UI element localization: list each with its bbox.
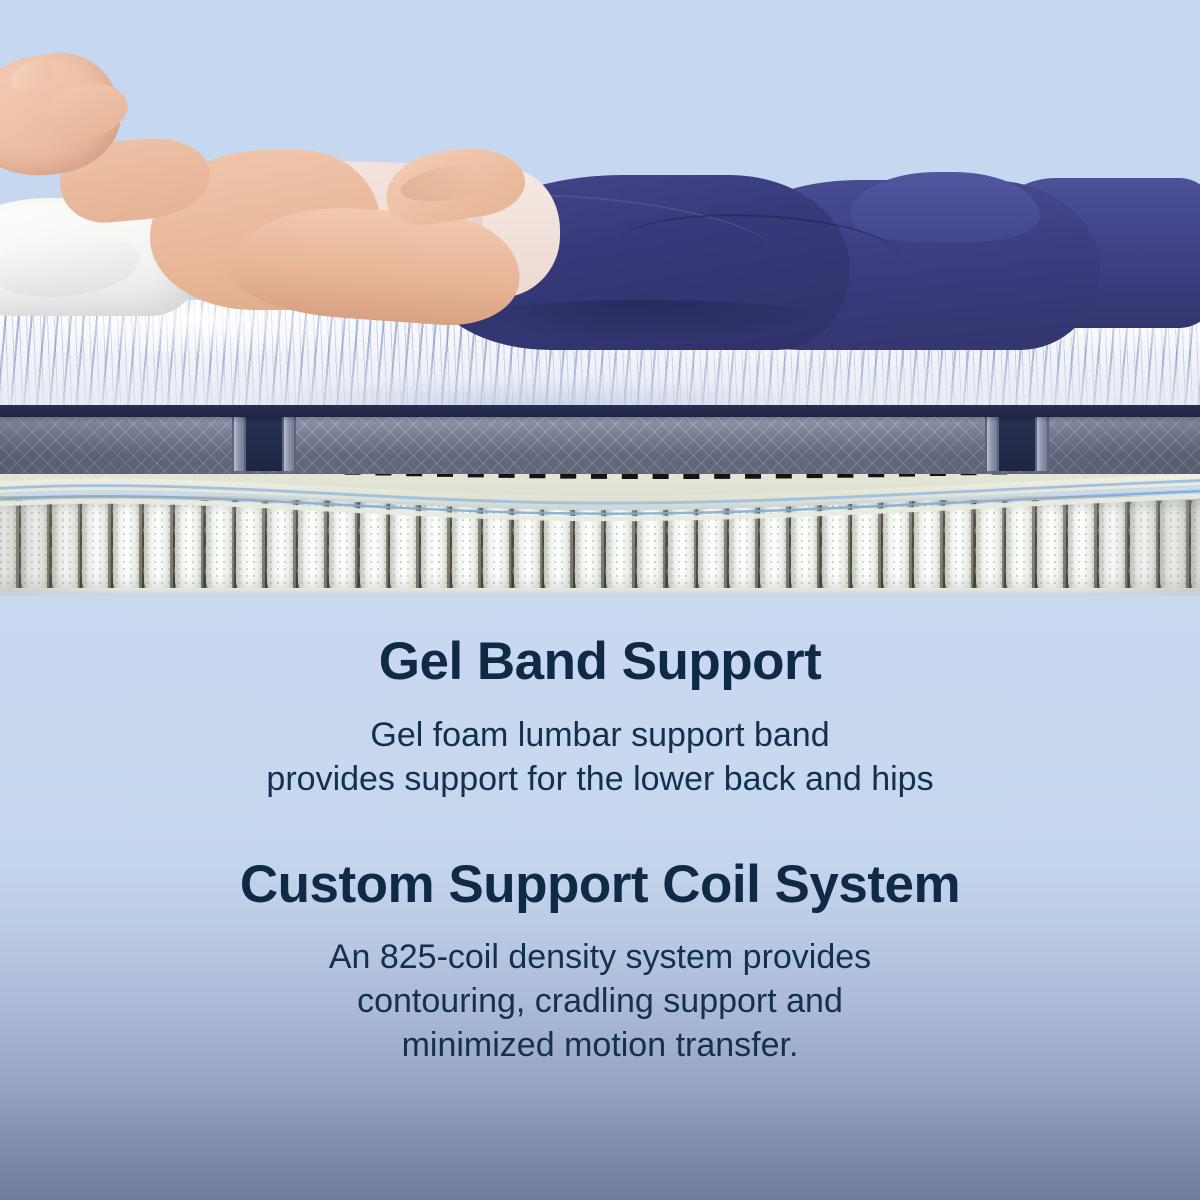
- feature-body-line: minimized motion transfer.: [0, 1023, 1200, 1067]
- feature-title-custom-support-coil-system: Custom Support Coil System: [0, 857, 1200, 913]
- hero-bottom-fade: [0, 590, 1200, 597]
- side-handle-right-b: [1035, 413, 1049, 471]
- feature-body-line: An 825-coil density system provides: [0, 935, 1200, 979]
- product-feature-panel: Gel Band Support Gel foam lumbar support…: [0, 0, 1200, 1200]
- side-handle-right-a: [985, 413, 999, 471]
- feature-body-line: provides support for the lower back and …: [0, 757, 1200, 801]
- feature-copy-block: Gel Band Support Gel foam lumbar support…: [0, 597, 1200, 1200]
- feature-body-gel-band-support: Gel foam lumbar support band provides su…: [0, 713, 1200, 801]
- feature-body-line: contouring, cradling support and: [0, 979, 1200, 1023]
- handle-recess-left: [246, 413, 282, 471]
- feature-custom-support-coil-system: Custom Support Coil System An 825-coil d…: [0, 857, 1200, 1067]
- leg-knee: [850, 172, 1040, 242]
- mattress-cutaway-photo: [0, 0, 1200, 597]
- side-handle-left-a: [232, 413, 246, 471]
- feature-gel-band-support: Gel Band Support Gel foam lumbar support…: [0, 634, 1200, 801]
- feature-title-gel-band-support: Gel Band Support: [0, 634, 1200, 690]
- feature-body-line: Gel foam lumbar support band: [0, 713, 1200, 757]
- waist-shadow: [455, 300, 835, 342]
- feature-body-custom-support-coil-system: An 825-coil density system provides cont…: [0, 935, 1200, 1068]
- handle-recess-right: [999, 413, 1035, 471]
- sleeper-figure: [0, 0, 1200, 340]
- side-handle-left-b: [282, 413, 296, 471]
